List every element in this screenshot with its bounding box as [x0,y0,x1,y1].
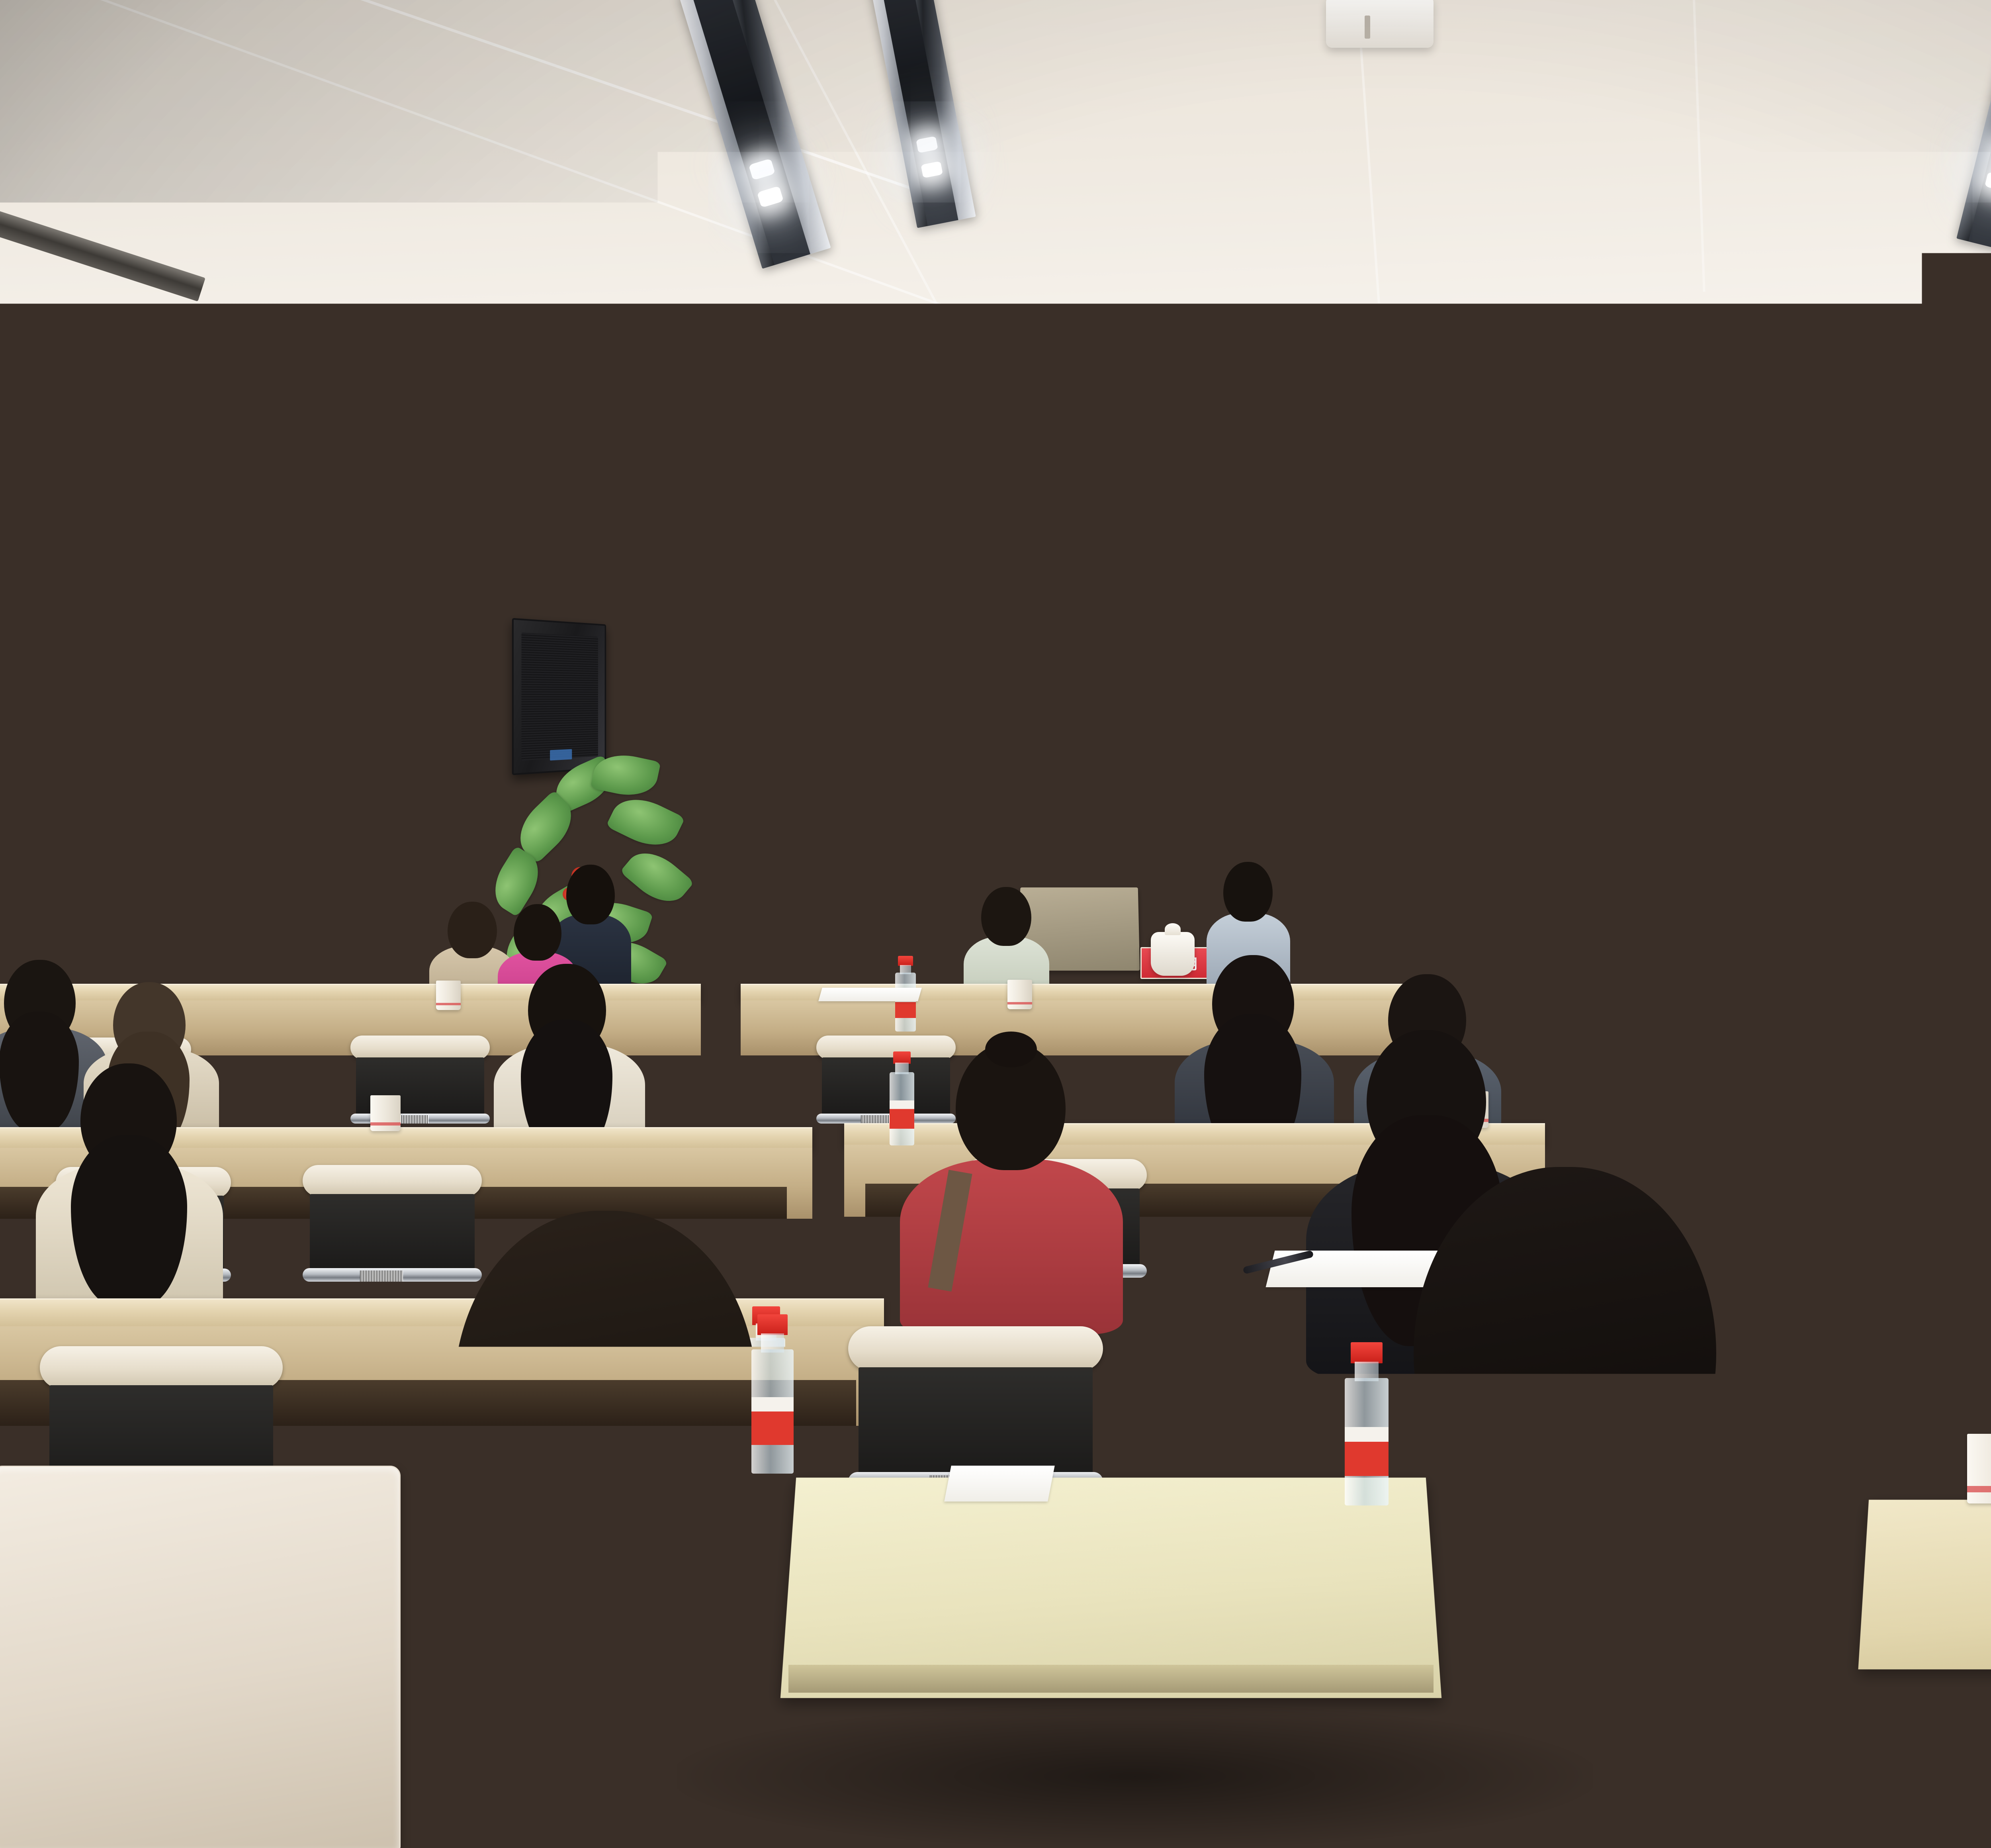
screen-affiliation: 经济学院/中国—东盟金融合作学院 [809,773,1891,809]
chair-far-5[interactable] [1872,1024,1991,1119]
ceiling-light-strip-2 [868,0,976,228]
ceiling-light-strip-3 [1956,0,1991,255]
smoke-detector-icon [1326,0,1434,48]
attendee-front-left-neck [526,1509,685,1601]
led-display-wall: 商 1937 布置加强课程思政建设工作 家庭家教家风专题党课 陆善勇书记 经济学… [804,571,1895,906]
ceiling [0,0,1991,530]
paper-cup-far-1[interactable] [436,981,461,1010]
nameplate-1: 杨 璜 [739,928,809,959]
attendee-rowC-1 [36,1051,223,1310]
executive-chair-front-left[interactable] [0,1466,401,1848]
screen-title-line-1: 布置加强课程思政建设工作 [809,614,1891,679]
water-bottle-front-2[interactable] [1342,1342,1391,1505]
handout-far-2[interactable] [1893,984,1991,998]
ceiling-recess-left [0,209,205,301]
presenter-hair [1079,814,1142,848]
presenter-glasses [1085,848,1140,861]
attendee-farA-1 [342,864,426,996]
desk-front-edge [788,1665,1434,1693]
handout-front[interactable] [944,1466,1054,1501]
handout-far-1[interactable] [818,988,922,1001]
paper-cup-row2-1[interactable] [370,1095,401,1131]
screen-speaker-name: 陆善勇书记 [809,728,1891,778]
paper-cup-front-1[interactable] [1967,1434,1991,1503]
paper-cup-far-2[interactable] [1007,980,1032,1009]
screen-date: 2023年11月19日 [809,810,1891,840]
ceiling-light-strip-1 [679,0,831,269]
attendee-farA-10 [1533,864,1615,996]
attendee-rowC-2-bun [985,1032,1037,1067]
desk-front-right-surface [1858,1500,1991,1670]
screen-title-line-2: 家庭家教家风专题党课 [809,673,1891,734]
handout-row2-1[interactable] [1900,1115,1991,1139]
lecture-hall-photo: 商 1937 布置加强课程思政建设工作 家庭家教家风专题党课 陆善勇书记 经济学… [0,0,1991,1848]
nameplate-1-text: 杨 璜 [750,933,797,954]
screen-surface: 商 1937 布置加强课程思政建设工作 家庭家教家风专题党课 陆善勇书记 经济学… [809,585,1891,901]
water-bottle-front-1[interactable] [749,1314,796,1474]
teapot-lid [1165,923,1181,935]
door-handle[interactable] [360,771,367,816]
